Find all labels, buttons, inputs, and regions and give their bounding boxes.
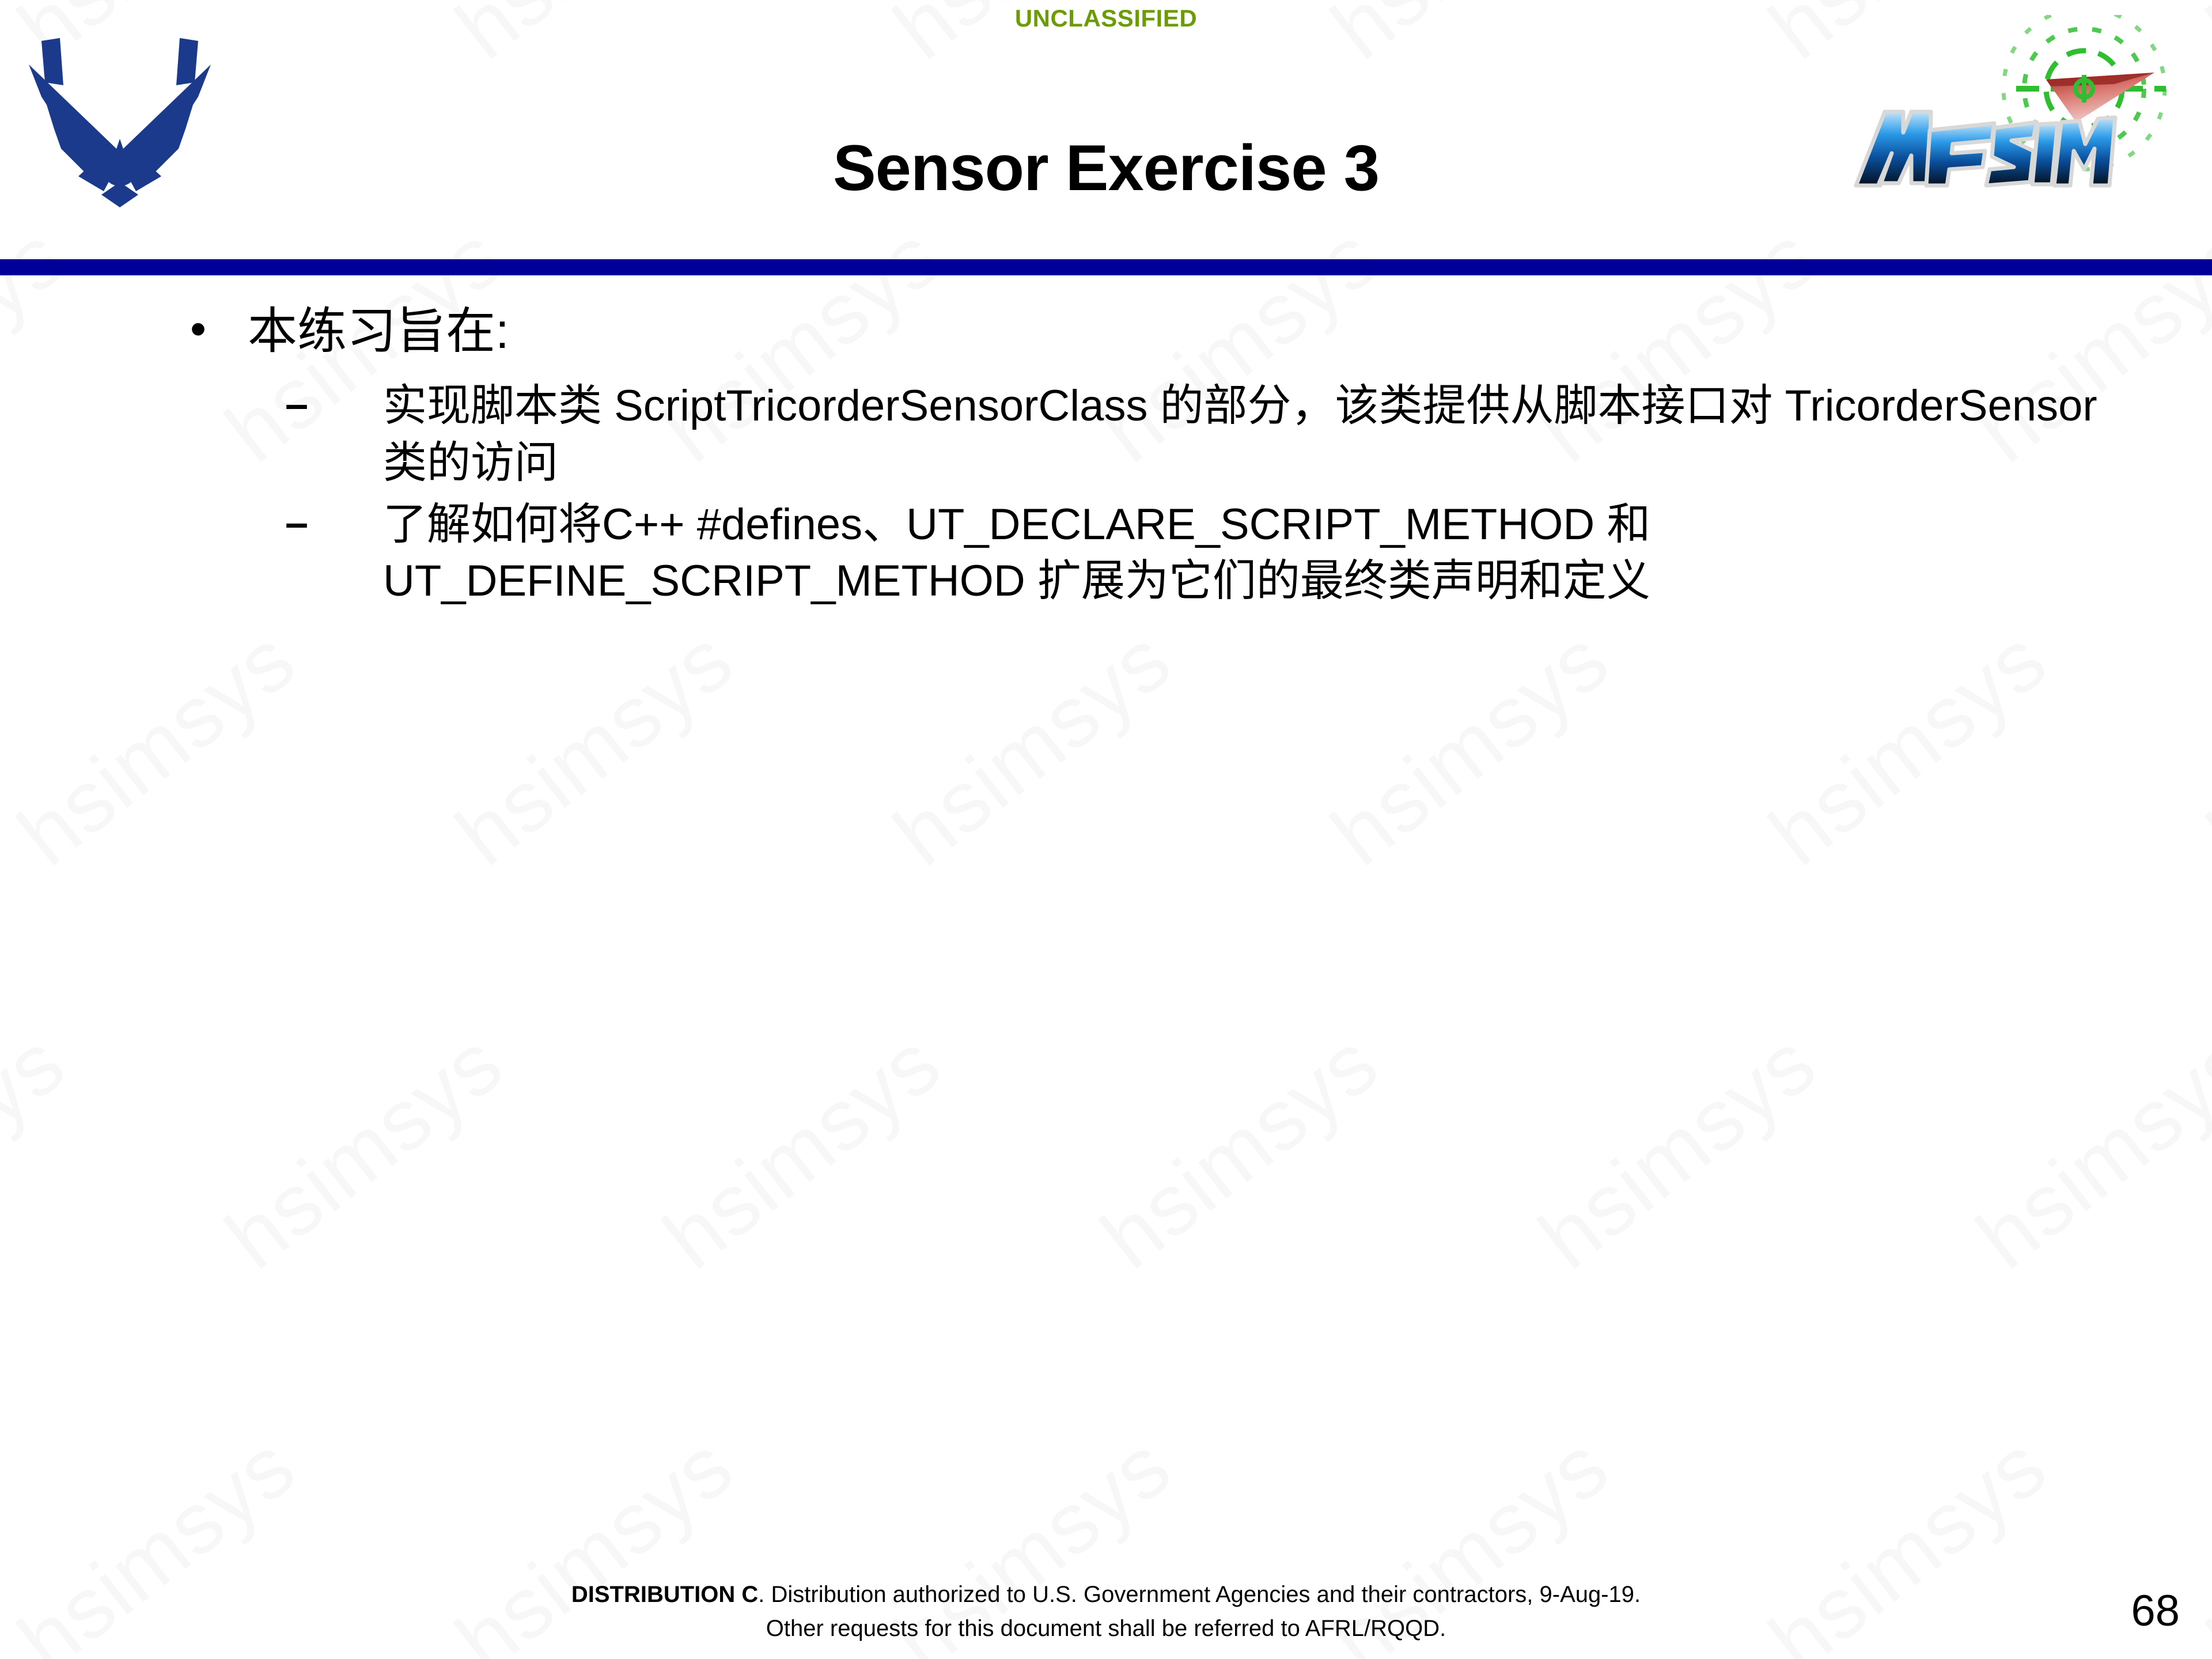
page-title: Sensor Exercise 3 xyxy=(0,132,2212,203)
page-number: 68 xyxy=(2131,1586,2180,1636)
distribution-label: DISTRIBUTION C xyxy=(571,1582,758,1607)
bullet-marker-dash: – xyxy=(285,378,383,432)
distribution-line-1: DISTRIBUTION C. Distribution authorized … xyxy=(0,1578,2212,1611)
bullet-text: 本练习旨在: xyxy=(248,300,2080,363)
bullet-text: 了解如何将C++ #defines、UT_DECLARE_SCRIPT_METH… xyxy=(383,497,2146,611)
distribution-statement: . Distribution authorized to U.S. Govern… xyxy=(758,1582,1641,1607)
distribution-footer: DISTRIBUTION C. Distribution authorized … xyxy=(0,1578,2212,1645)
title-divider-rule xyxy=(0,259,2212,275)
content-body: • 本练习旨在: – 实现脚本类 ScriptTricorderSensorCl… xyxy=(0,300,2212,615)
bullet-marker-dash: – xyxy=(285,497,383,551)
bullet-marker-dot: • xyxy=(190,300,248,358)
bullet-item-level2: – 了解如何将C++ #defines、UT_DECLARE_SCRIPT_ME… xyxy=(0,497,2212,611)
distribution-line-2: Other requests for this document shall b… xyxy=(0,1612,2212,1645)
bullet-item-level2: – 实现脚本类 ScriptTricorderSensorClass 的部分，该… xyxy=(0,378,2212,492)
bullet-text: 实现脚本类 ScriptTricorderSensorClass 的部分，该类提… xyxy=(383,378,2146,492)
slide-root: UNCLASSIFIED xyxy=(0,0,2212,1659)
bullet-item-level1: • 本练习旨在: xyxy=(0,300,2212,363)
